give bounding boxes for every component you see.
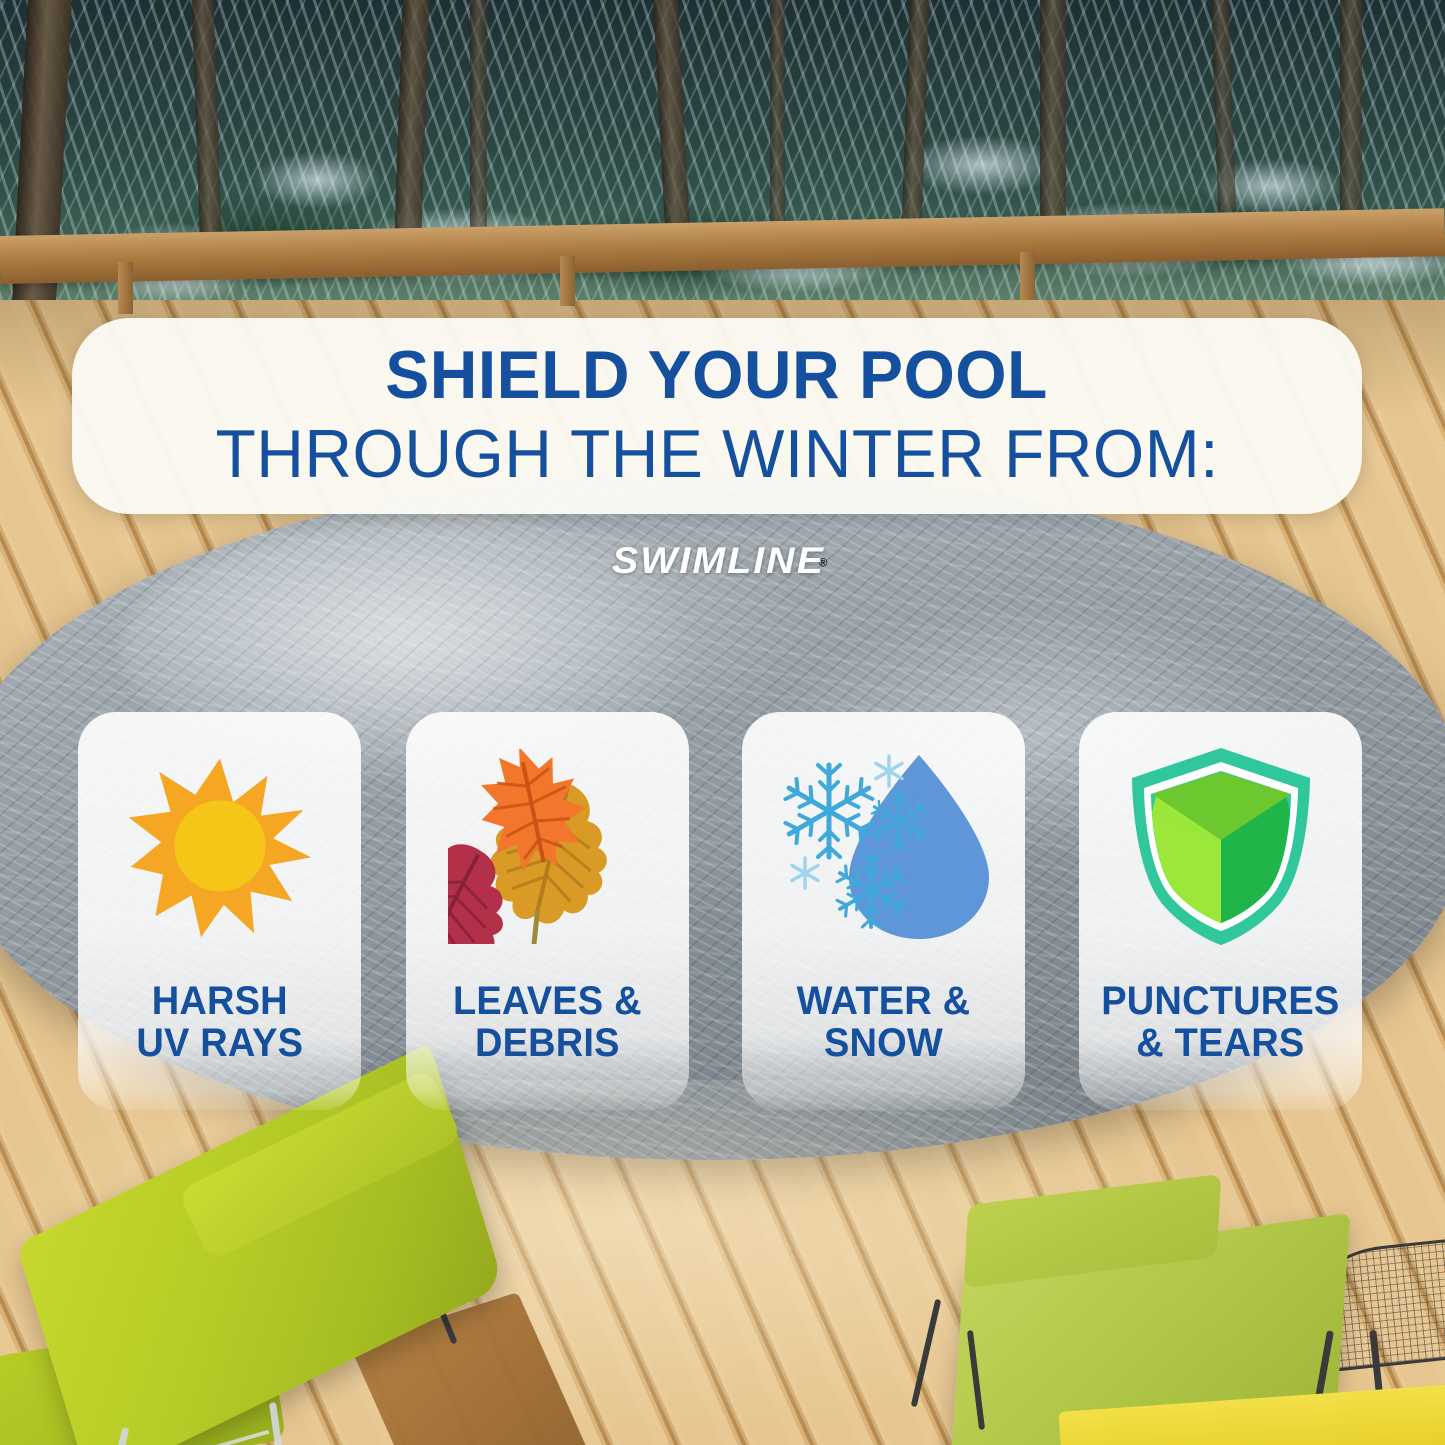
railing-post xyxy=(1020,252,1035,300)
feature-card-water-snow: WATER & SNOW xyxy=(742,712,1025,1110)
brand-logo: SWIMLINE® xyxy=(0,540,1445,582)
feature-card-leaves-debris: LEAVES & DEBRIS xyxy=(406,712,689,1110)
label-line-1: PUNCTURES xyxy=(1101,980,1339,1022)
feature-card-label: HARSH UV RAYS xyxy=(136,980,303,1065)
icon-container xyxy=(406,712,689,980)
leaves-icon xyxy=(448,749,648,944)
label-line-2: DEBRIS xyxy=(453,1022,642,1064)
water-snow-icon xyxy=(779,749,989,944)
icon-container xyxy=(78,712,361,980)
label-line-2: & TEARS xyxy=(1101,1022,1339,1064)
railing-post xyxy=(560,256,575,306)
sun-icon xyxy=(125,751,315,941)
headline-line-1: SHIELD YOUR POOL xyxy=(386,340,1049,411)
label-line-1: HARSH xyxy=(136,980,303,1022)
tree-trunk xyxy=(470,0,487,240)
feature-card-row: HARSH UV RAYS xyxy=(0,712,1445,1112)
railing-post xyxy=(118,262,133,314)
tree-trunk xyxy=(1040,0,1066,250)
promo-image: SHIELD YOUR POOL THROUGH THE WINTER FROM… xyxy=(0,0,1445,1445)
feature-card-label: PUNCTURES & TEARS xyxy=(1101,980,1339,1065)
feature-card-label: WATER & SNOW xyxy=(797,980,971,1065)
icon-container xyxy=(1079,712,1362,980)
feature-card-uv-rays: HARSH UV RAYS xyxy=(78,712,361,1110)
label-line-1: LEAVES & xyxy=(453,980,642,1022)
feature-card-label: LEAVES & DEBRIS xyxy=(453,980,642,1065)
icon-container xyxy=(742,712,1025,980)
shield-cube-icon xyxy=(1126,744,1316,949)
brand-wordmark: SWIMLINE xyxy=(612,540,825,582)
label-line-2: UV RAYS xyxy=(136,1022,303,1064)
label-line-1: WATER & xyxy=(797,980,971,1022)
label-line-2: SNOW xyxy=(797,1022,971,1064)
headline-line-2: THROUGH THE WINTER FROM: xyxy=(215,416,1218,492)
feature-card-punctures-tears: PUNCTURES & TEARS xyxy=(1079,712,1362,1110)
tree-trunk xyxy=(770,0,785,235)
headline-banner: SHIELD YOUR POOL THROUGH THE WINTER FROM… xyxy=(72,318,1362,514)
lounge-chair-left xyxy=(0,1140,550,1445)
chair-leg xyxy=(911,1299,942,1408)
